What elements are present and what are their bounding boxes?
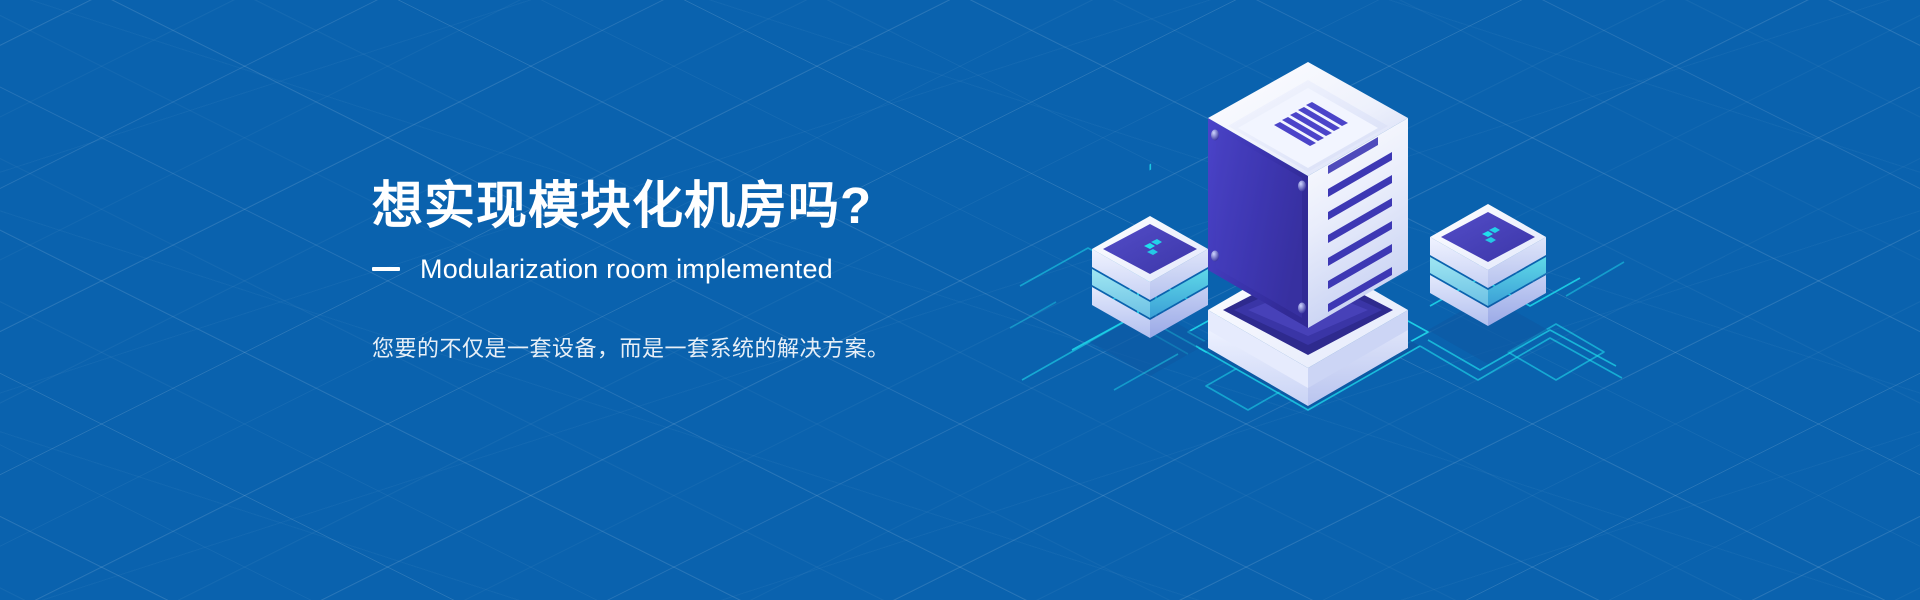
hero-copy-block: 想实现模块化机房吗? Modularization room implement… [372,176,1072,365]
hero-headline: 想实现模块化机房吗? [372,176,1072,236]
hero-subtitle-row: Modularization room implemented [372,253,1072,285]
server-tower [1208,62,1408,406]
hero-subtitle: Modularization room implemented [420,253,833,285]
dash-mark-icon [372,267,400,271]
hero-illustration [1010,90,1630,430]
chip-module-left [1092,164,1208,338]
isometric-server-illustration [1010,90,1630,430]
hero-body-text: 您要的不仅是一套设备，而是一套系统的解决方案。 [372,332,1072,365]
tower-body [1208,62,1408,328]
hero-banner: 想实现模块化机房吗? Modularization room implement… [0,0,1920,600]
